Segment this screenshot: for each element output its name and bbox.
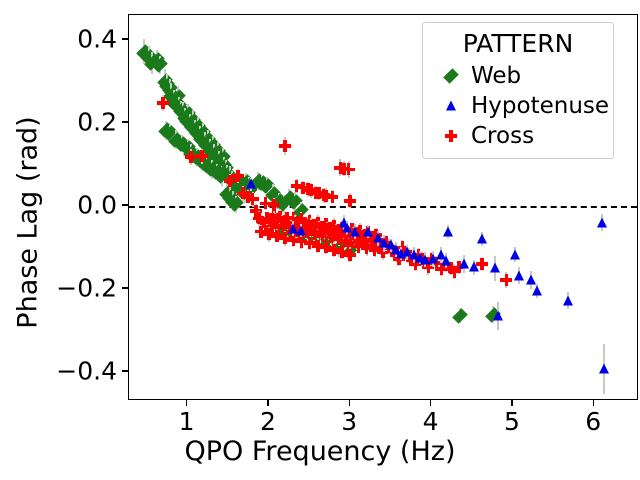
error-bar — [440, 247, 442, 264]
legend-entry-label: Cross — [471, 123, 534, 149]
error-bar — [175, 130, 177, 148]
error-bar — [283, 195, 285, 213]
x-tick-label: 1 — [179, 409, 195, 434]
error-bar — [148, 46, 150, 69]
error-bar — [257, 172, 259, 190]
error-bar — [229, 188, 231, 205]
error-bar — [143, 39, 145, 64]
error-bar — [497, 302, 499, 330]
error-bar — [292, 221, 294, 236]
y-tick-mark — [122, 370, 128, 371]
y-tick-label: −0.4 — [56, 358, 117, 383]
x-tick-label: 3 — [341, 409, 357, 434]
error-bar — [169, 125, 171, 142]
error-bar — [432, 251, 434, 268]
error-bar — [459, 308, 461, 323]
y-tick-mark — [122, 204, 128, 205]
error-bar — [406, 245, 408, 260]
y-tick-label: −0.2 — [56, 275, 117, 300]
error-bar — [232, 191, 234, 211]
error-bar — [159, 56, 161, 74]
y-axis-title: Phase Lag (rad) — [13, 43, 44, 403]
error-bar — [447, 225, 449, 238]
error-bar — [354, 224, 356, 239]
error-bar — [419, 251, 421, 264]
x-tick-label: 5 — [504, 409, 520, 434]
error-bar — [413, 247, 415, 264]
error-bar — [367, 225, 369, 238]
error-bar — [206, 157, 208, 174]
y-tick-label: 0.4 — [77, 26, 117, 51]
error-bar — [494, 256, 496, 281]
error-bar — [424, 252, 426, 267]
error-bar — [151, 52, 153, 74]
zero-reference-line — [129, 206, 637, 208]
error-bar — [300, 224, 302, 237]
x-tick-mark — [511, 400, 512, 406]
error-bar — [473, 260, 475, 275]
error-bar — [514, 247, 516, 262]
error-bar — [601, 214, 603, 231]
error-bar — [221, 166, 223, 186]
error-bar — [156, 50, 158, 70]
error-bar — [383, 235, 385, 252]
error-bar — [245, 173, 247, 191]
x-axis-title: QPO Frequency (Hz) — [0, 436, 640, 467]
error-bar — [250, 178, 252, 191]
error-bar — [165, 121, 167, 139]
error-bar — [492, 306, 494, 323]
error-bar — [530, 271, 532, 289]
error-bar — [211, 160, 213, 178]
error-bar — [567, 292, 569, 309]
error-bar — [463, 255, 465, 273]
error-bar — [346, 221, 348, 234]
y-tick-mark — [122, 121, 128, 122]
diamond-marker-icon — [431, 61, 471, 91]
plus-marker-icon — [431, 121, 471, 151]
x-tick-label: 2 — [260, 409, 276, 434]
figure: 123456 0.40.20.0−0.2−0.4 QPO Frequency (… — [0, 0, 640, 480]
y-tick-label: 0.2 — [77, 109, 117, 134]
error-bar — [481, 232, 483, 245]
x-tick-mark — [593, 400, 594, 406]
error-bar — [181, 135, 183, 152]
triangle-marker-icon — [431, 91, 471, 121]
error-bar — [343, 215, 345, 230]
y-tick-mark — [122, 287, 128, 288]
error-bar — [216, 164, 218, 181]
error-bar — [261, 175, 263, 192]
legend-entry-label: Web — [471, 63, 521, 89]
error-bar — [395, 242, 397, 257]
error-bar — [235, 196, 237, 213]
error-bar — [603, 344, 605, 394]
legend: PATTERN WebHypotenuseCross — [422, 22, 614, 159]
legend-title: PATTERN — [431, 29, 605, 58]
error-bar — [536, 284, 538, 299]
error-bar — [266, 177, 268, 195]
legend-entry-cross[interactable]: Cross — [431, 121, 605, 151]
y-tick-mark — [122, 38, 128, 39]
error-bar — [288, 189, 290, 206]
y-tick-label: 0.0 — [77, 192, 117, 217]
x-tick-mark — [349, 400, 350, 406]
legend-entry-label: Hypotenuse — [471, 93, 609, 119]
x-tick-mark — [267, 400, 268, 406]
error-bar — [377, 231, 379, 246]
legend-entries: WebHypotenuseCross — [431, 61, 605, 151]
error-bar — [400, 247, 402, 260]
x-tick-mark — [186, 400, 187, 406]
error-bar — [445, 253, 447, 268]
x-tick-mark — [430, 400, 431, 406]
error-bar — [294, 192, 296, 212]
error-bar — [390, 239, 392, 252]
x-tick-label: 6 — [585, 409, 601, 434]
legend-entry-web[interactable]: Web — [431, 61, 605, 91]
x-tick-label: 4 — [423, 409, 439, 434]
error-bar — [518, 267, 520, 284]
legend-entry-hypotenuse[interactable]: Hypotenuse — [431, 91, 605, 121]
